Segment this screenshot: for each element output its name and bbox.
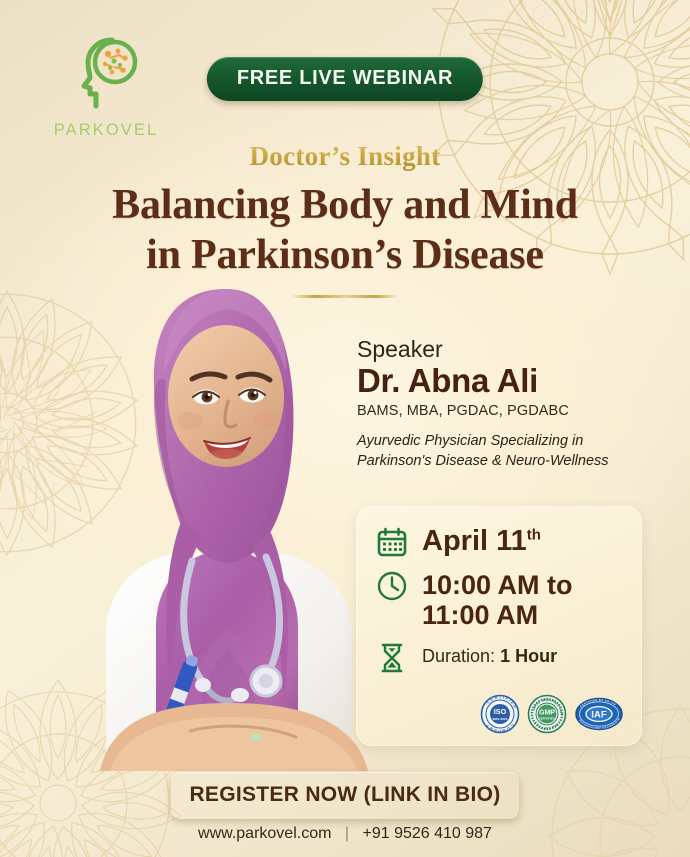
parkovel-logo: PARKOVEL xyxy=(46,32,166,140)
footer-separator: | xyxy=(345,825,349,842)
footer-contact: www.parkovel.com | +91 9526 410 987 xyxy=(0,825,690,843)
speaker-tagline-line-1: Ayurvedic Physician Specializing in xyxy=(357,433,583,449)
event-date-text: April 11 xyxy=(422,525,527,557)
event-date-row: April 11th xyxy=(376,526,624,558)
certification-badges: ISO 9001:2015 CERTIFIED COMPANY xyxy=(480,694,624,734)
event-time: 10:00 AM to 11:00 AM xyxy=(422,570,573,630)
event-duration: Duration: 1 Hour xyxy=(422,642,557,668)
hourglass-icon xyxy=(376,642,408,674)
svg-text:ISO: ISO xyxy=(494,707,507,716)
calendar-icon xyxy=(376,526,408,558)
svg-text:IAF: IAF xyxy=(591,710,607,721)
iso-certified-badge: ISO 9001:2015 CERTIFIED COMPANY xyxy=(480,694,520,734)
speaker-tagline-line-2: Parkinson's Disease & Neuro-Wellness xyxy=(357,453,609,469)
event-duration-label: Duration: xyxy=(422,646,495,666)
free-live-webinar-badge: FREE LIVE WEBINAR xyxy=(207,57,483,101)
speaker-tagline: Ayurvedic Physician Specializing in Park… xyxy=(357,432,657,471)
svg-text:9001:2015: 9001:2015 xyxy=(493,717,508,721)
event-time-line-2: 11:00 AM xyxy=(422,600,538,630)
event-date: April 11th xyxy=(422,526,541,556)
event-date-suffix: th xyxy=(527,526,541,543)
gmp-certified-badge: GMP CERTIFIED GOOD MANUFACTURING PRACTIC… xyxy=(527,694,567,734)
speaker-photo xyxy=(70,261,400,771)
iaf-accredited-badge: IAF CERTIFIED BY AN IAF ACCREDITED CERTI… xyxy=(574,694,624,734)
speaker-role-label: Speaker xyxy=(357,336,657,362)
footer-phone[interactable]: +91 9526 410 987 xyxy=(362,825,491,842)
event-time-row: 10:00 AM to 11:00 AM xyxy=(376,570,624,630)
event-time-line-1: 10:00 AM to xyxy=(422,570,573,600)
brain-head-logo-icon xyxy=(46,32,166,119)
speaker-info: Speaker Dr. Abna Ali BAMS, MBA, PGDAC, P… xyxy=(357,336,657,472)
footer-website[interactable]: www.parkovel.com xyxy=(198,825,331,842)
svg-text:GMP: GMP xyxy=(539,709,555,716)
svg-text:CERTIFIED: CERTIFIED xyxy=(539,716,556,720)
parkovel-wordmark: PARKOVEL xyxy=(46,121,166,140)
speaker-name: Dr. Abna Ali xyxy=(357,363,657,400)
event-duration-value: 1 Hour xyxy=(500,646,557,666)
register-now-button[interactable]: REGISTER NOW (LINK IN BIO) xyxy=(171,772,519,819)
eyebrow-text: Doctor’s Insight xyxy=(0,141,690,172)
clock-icon xyxy=(376,570,408,602)
webinar-poster: PARKOVEL FREE LIVE WEBINAR Doctor’s Insi… xyxy=(0,0,690,857)
event-duration-row: Duration: 1 Hour xyxy=(376,642,624,674)
headline-line-1: Balancing Body and Mind xyxy=(112,182,578,228)
speaker-credentials: BAMS, MBA, PGDAC, PGDABC xyxy=(357,403,657,419)
event-details-card: April 11th 10:00 AM to 11:00 AM xyxy=(356,506,642,746)
